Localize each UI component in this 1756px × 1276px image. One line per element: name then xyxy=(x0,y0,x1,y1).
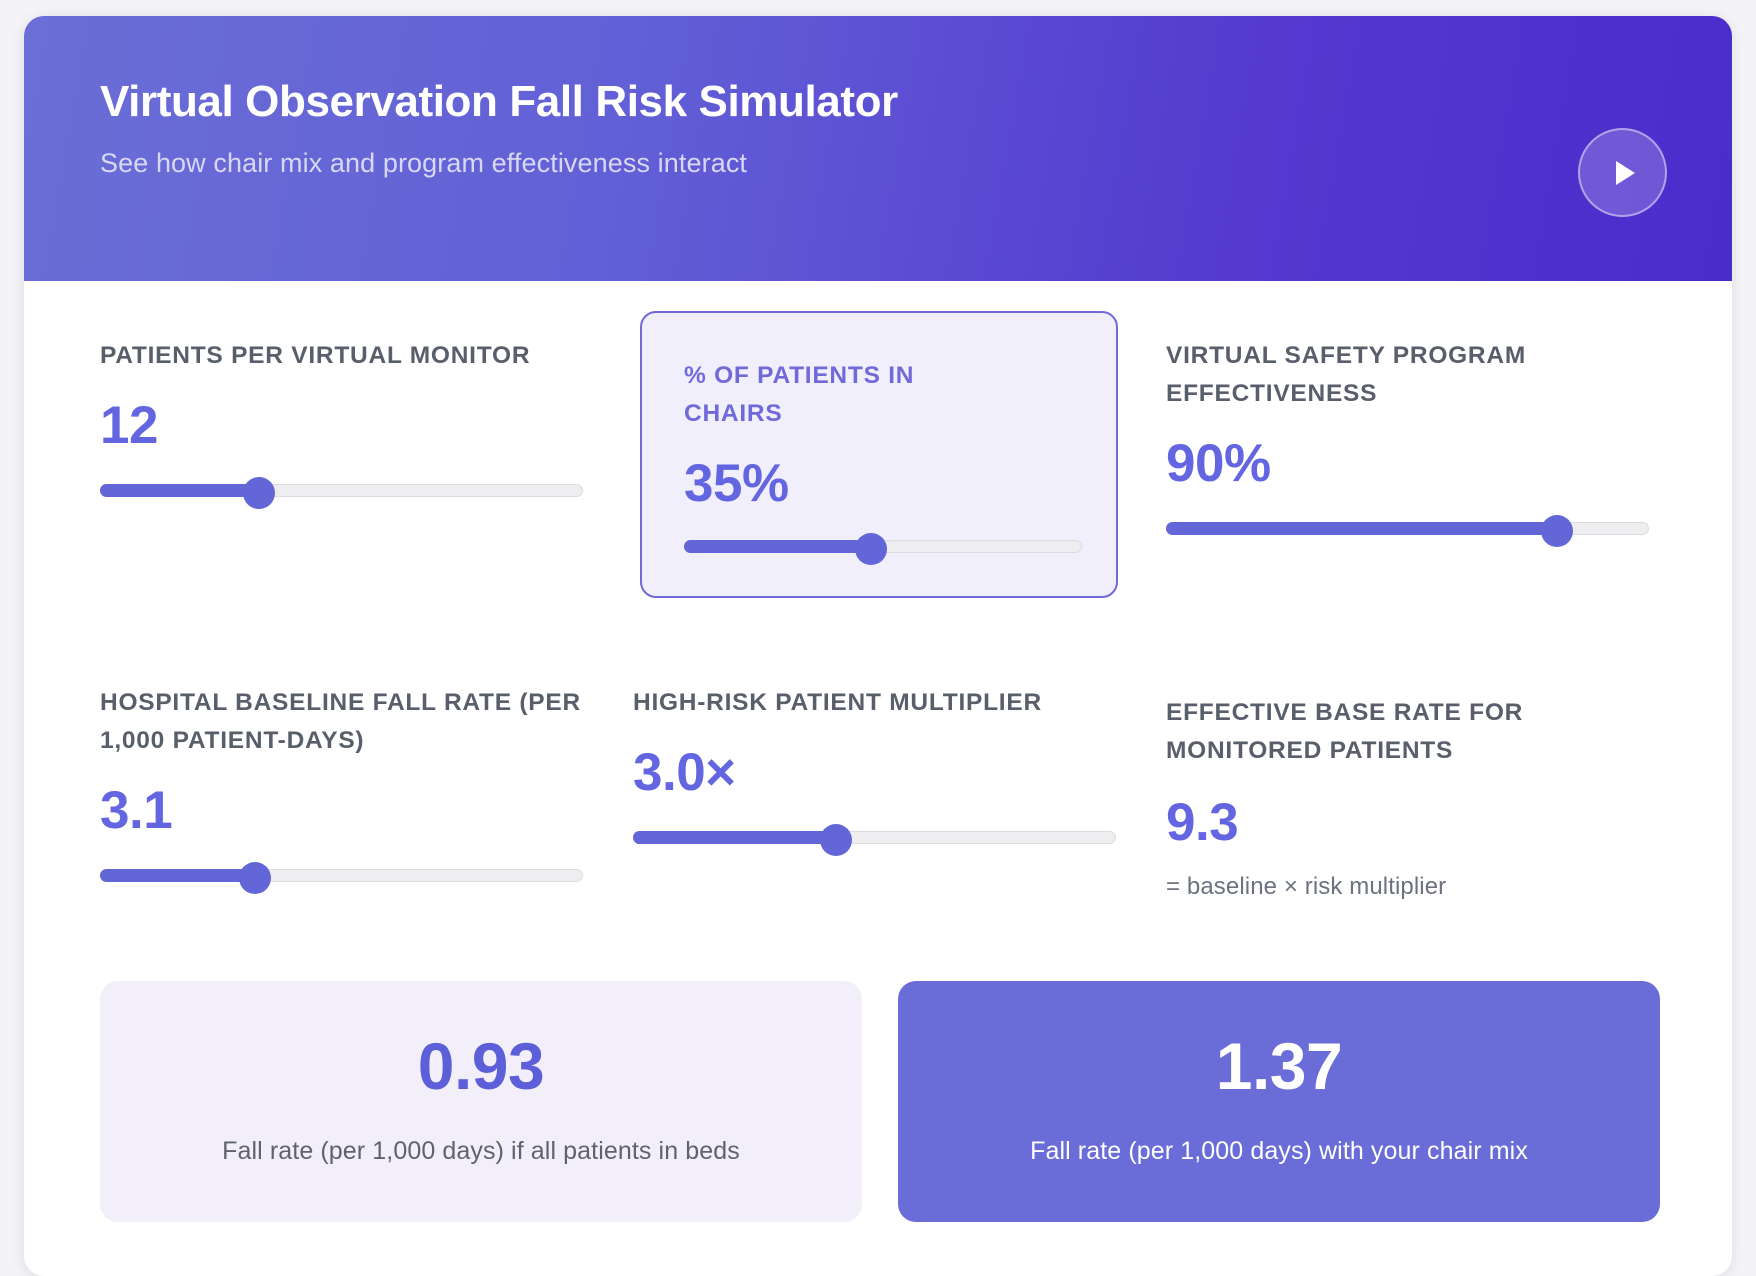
derived-label: EFFECTIVE BASE RATE FOR MONITORED PATIEN… xyxy=(1166,694,1656,770)
control-label: HIGH-RISK PATIENT MULTIPLIER xyxy=(633,684,1123,722)
slider-thumb[interactable] xyxy=(1541,515,1573,547)
control-label: PATIENTS PER VIRTUAL MONITOR xyxy=(100,337,590,375)
result-value: 1.37 xyxy=(918,1033,1640,1099)
result-card-chair-mix: 1.37 Fall rate (per 1,000 days) with you… xyxy=(898,981,1660,1222)
controls-body: PATIENTS PER VIRTUAL MONITOR 12 % OF PAT… xyxy=(24,281,1732,1222)
slider-high-risk-patient-multiplier[interactable] xyxy=(633,829,1116,845)
result-card-all-beds: 0.93 Fall rate (per 1,000 days) if all p… xyxy=(100,981,862,1222)
slider-fill xyxy=(1166,522,1557,535)
slider-fill xyxy=(100,484,259,497)
control-label: VIRTUAL SAFETY PROGRAM EFFECTIVENESS xyxy=(1166,337,1656,413)
result-caption: Fall rate (per 1,000 days) with your cha… xyxy=(918,1137,1640,1166)
slider-patients-per-virtual-monitor[interactable] xyxy=(100,482,583,498)
controls-row-1: PATIENTS PER VIRTUAL MONITOR 12 % OF PAT… xyxy=(100,325,1660,598)
control-percent-of-patients-in-chairs: % OF PATIENTS IN CHAIRS 35% xyxy=(633,325,1166,598)
derived-value: 9.3 xyxy=(1166,796,1699,849)
result-caption: Fall rate (per 1,000 days) if all patien… xyxy=(120,1137,842,1166)
control-value: 3.0× xyxy=(633,746,1166,799)
slider-hospital-baseline-fall-rate[interactable] xyxy=(100,867,583,883)
slider-fill xyxy=(100,869,255,882)
results-row: 0.93 Fall rate (per 1,000 days) if all p… xyxy=(100,981,1660,1222)
derived-effective-base-rate: EFFECTIVE BASE RATE FOR MONITORED PATIEN… xyxy=(1166,672,1699,901)
control-value: 12 xyxy=(100,399,633,452)
controls-row-2: HOSPITAL BASELINE FALL RATE (PER 1,000 P… xyxy=(100,672,1660,901)
slider-percent-of-patients-in-chairs[interactable] xyxy=(684,538,1082,554)
slider-thumb[interactable] xyxy=(239,862,271,894)
result-value: 0.93 xyxy=(120,1033,842,1099)
slider-thumb[interactable] xyxy=(855,533,887,565)
play-button[interactable] xyxy=(1578,128,1667,217)
control-hospital-baseline-fall-rate: HOSPITAL BASELINE FALL RATE (PER 1,000 P… xyxy=(100,672,633,883)
control-label: % OF PATIENTS IN CHAIRS xyxy=(684,357,1014,433)
control-label: HOSPITAL BASELINE FALL RATE (PER 1,000 P… xyxy=(100,684,590,760)
slider-thumb[interactable] xyxy=(820,824,852,856)
control-value: 90% xyxy=(1166,437,1699,490)
simulator-card: Virtual Observation Fall Risk Simulator … xyxy=(24,16,1732,1276)
control-high-risk-patient-multiplier: HIGH-RISK PATIENT MULTIPLIER 3.0× xyxy=(633,672,1166,845)
control-patients-per-virtual-monitor: PATIENTS PER VIRTUAL MONITOR 12 xyxy=(100,325,633,498)
highlighted-control-card[interactable]: % OF PATIENTS IN CHAIRS 35% xyxy=(640,311,1118,598)
play-icon xyxy=(1616,161,1635,185)
slider-virtual-safety-program-effectiveness[interactable] xyxy=(1166,520,1649,536)
slider-fill xyxy=(633,831,836,844)
page-subtitle: See how chair mix and program effectiven… xyxy=(100,148,1662,179)
slider-fill xyxy=(684,540,871,553)
control-virtual-safety-program-effectiveness: VIRTUAL SAFETY PROGRAM EFFECTIVENESS 90% xyxy=(1166,325,1699,536)
header-banner: Virtual Observation Fall Risk Simulator … xyxy=(24,16,1732,281)
control-value: 35% xyxy=(684,457,1078,510)
slider-thumb[interactable] xyxy=(243,477,275,509)
derived-formula-note: = baseline × risk multiplier xyxy=(1166,873,1699,901)
control-value: 3.1 xyxy=(100,784,633,837)
page-title: Virtual Observation Fall Risk Simulator xyxy=(100,78,1662,126)
